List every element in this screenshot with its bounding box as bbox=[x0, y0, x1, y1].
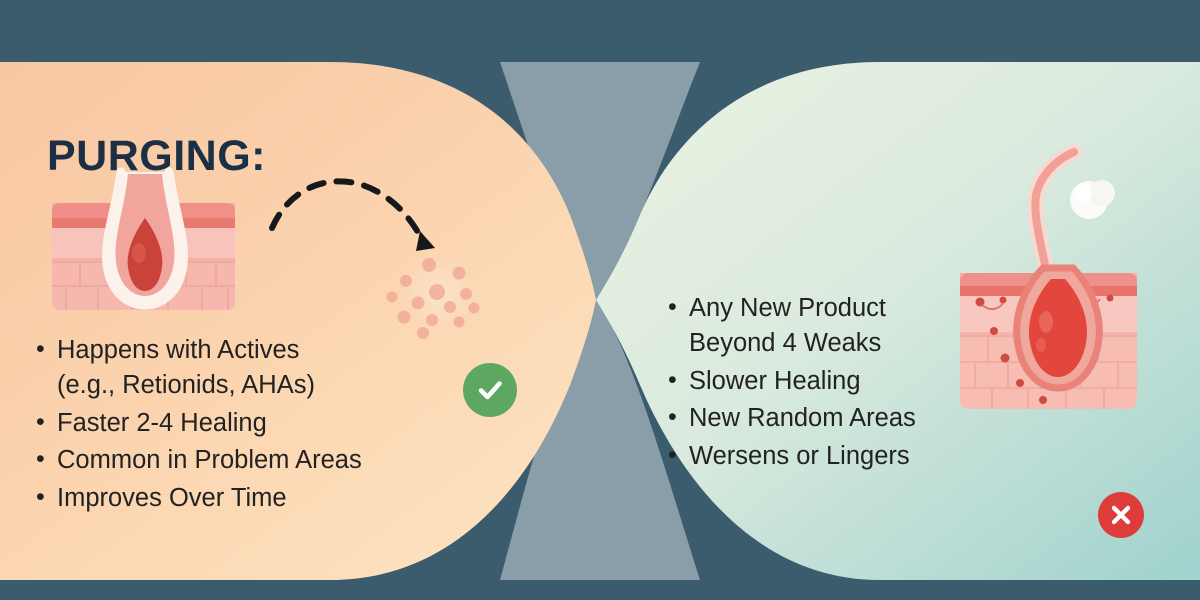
list-item: Beyond 4 Weaks bbox=[668, 331, 916, 357]
purging-heading: PURGING: bbox=[47, 132, 266, 181]
breakouts-bullet-list: Any New Product Beyond 4 Weaks Slower He… bbox=[668, 296, 916, 482]
list-item: Slower Healing bbox=[668, 369, 916, 395]
infographic-canvas: PURGING: BREAKOUTS: Happens with Actives… bbox=[0, 0, 1200, 600]
list-item: New Random Areas bbox=[668, 406, 916, 432]
list-item: Wersens or Lingers bbox=[668, 444, 916, 470]
skin-cross-section-pustule-icon bbox=[960, 152, 1137, 409]
list-item: Common in Problem Areas bbox=[36, 448, 362, 474]
list-item: Improves Over Time bbox=[36, 486, 362, 512]
list-item: Happens with Actives bbox=[36, 338, 362, 364]
list-item: Faster 2-4 Healing bbox=[36, 411, 362, 437]
list-item: (e.g., Retionids, AHAs) bbox=[36, 373, 362, 399]
purging-bullet-list: Happens with Actives (e.g., Retionids, A… bbox=[36, 338, 362, 524]
pustule-head bbox=[1070, 180, 1115, 219]
cross-icon bbox=[1098, 492, 1144, 538]
list-item: Any New Product bbox=[668, 296, 916, 322]
check-icon bbox=[463, 363, 517, 417]
